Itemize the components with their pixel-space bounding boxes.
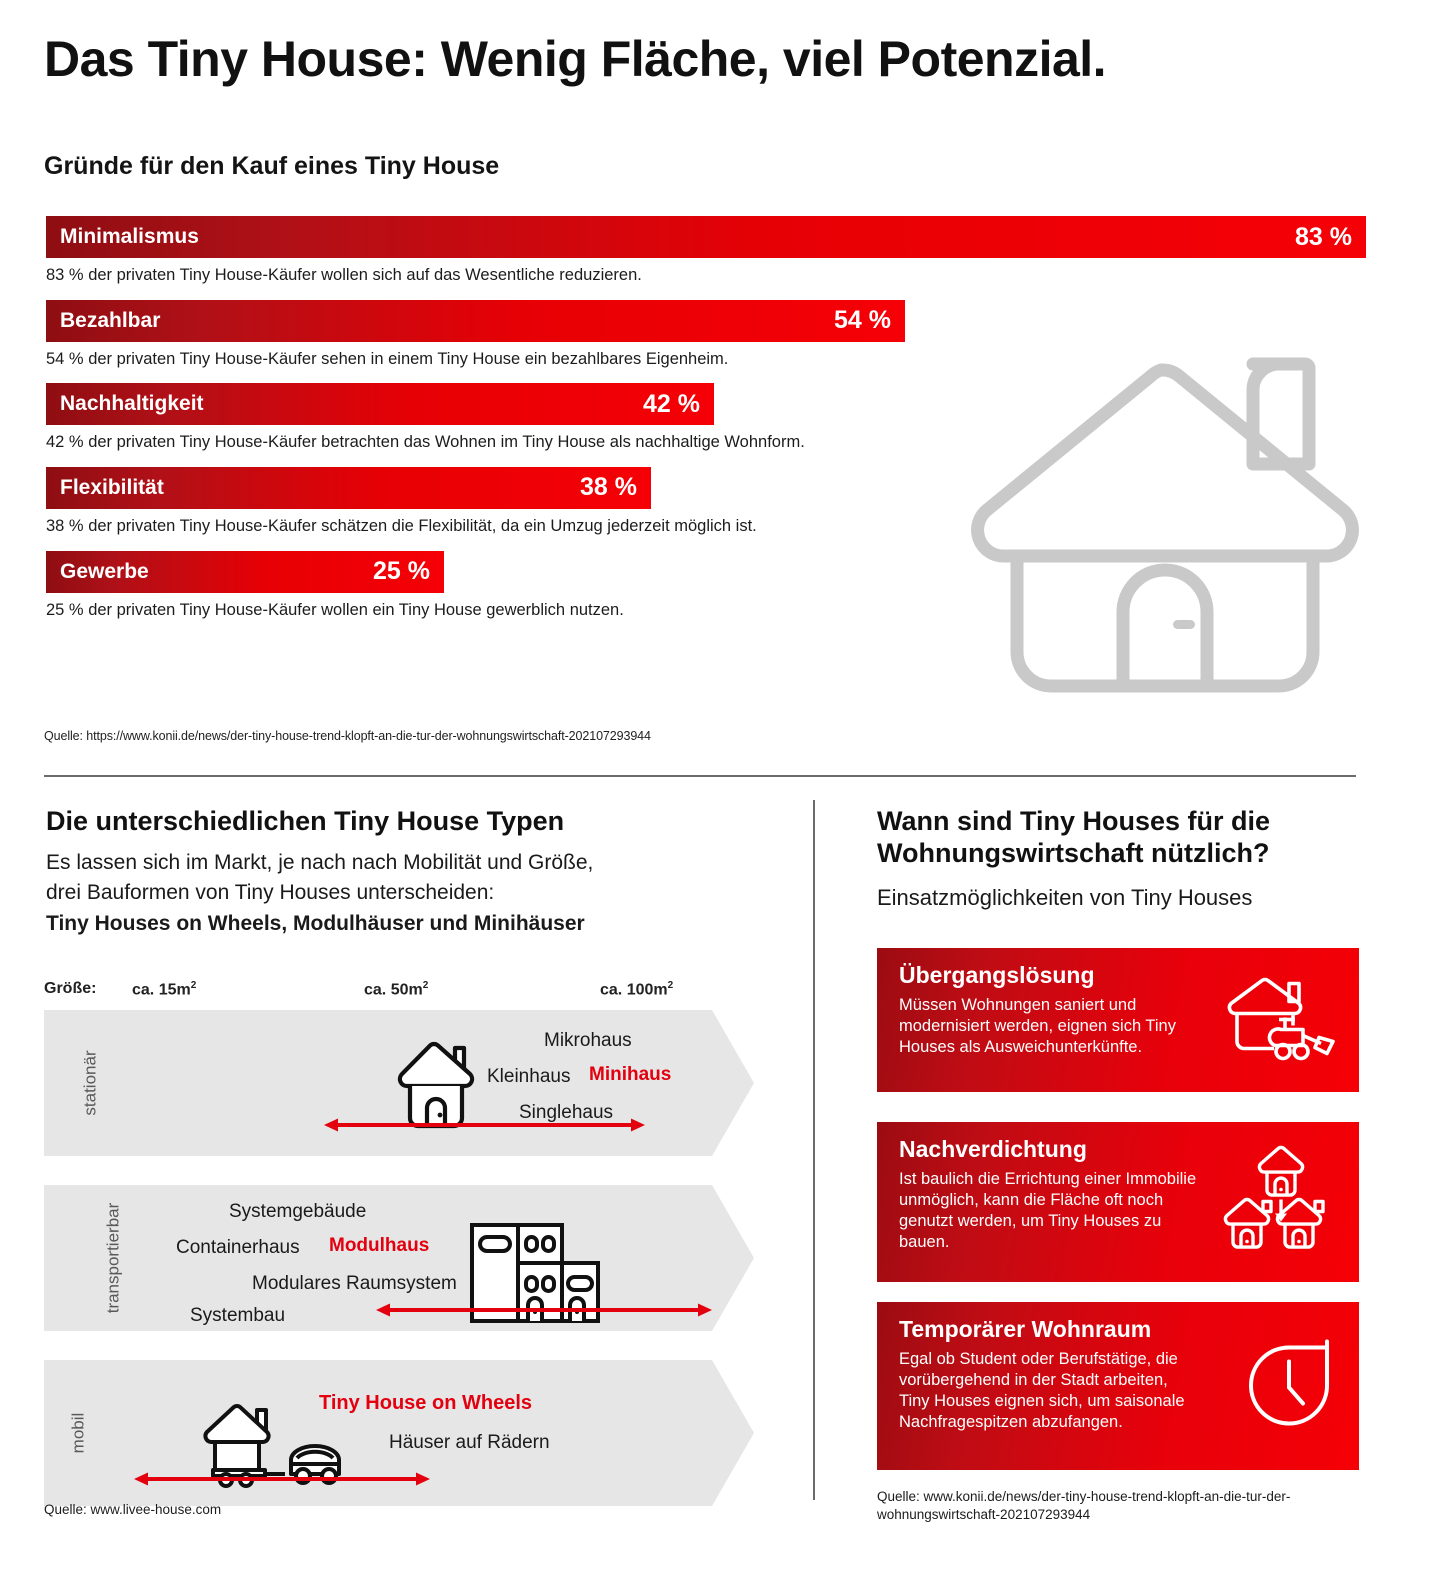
usecases-heading-line2: Wohnungswirtschaft nützlich?: [877, 838, 1269, 868]
bar-label: Gewerbe: [60, 560, 149, 584]
types-intro-line2: drei Bauformen von Tiny Houses untersche…: [46, 878, 746, 908]
types-source: Quelle: www.livee-house.com: [44, 1502, 221, 1517]
band-axis-label: transportierbar: [103, 1203, 123, 1314]
band-term-modulhaus: Modulhaus: [329, 1235, 429, 1257]
band-stationaer: stationär Mikrohaus Kleinhaus Minihaus S…: [44, 1010, 754, 1156]
band-term-kleinhaus: Kleinhaus: [487, 1066, 570, 1088]
types-intro: Es lassen sich im Markt, je nach nach Mo…: [46, 848, 746, 939]
bar-bezahlbar: Bezahlbar 54 %: [46, 300, 905, 342]
bar-label: Nachhaltigkeit: [60, 392, 204, 416]
card-body: Ist baulich die Errichtung einer Immobil…: [899, 1169, 1199, 1253]
bar-nachhaltigkeit: Nachhaltigkeit 42 %: [46, 383, 714, 425]
bar-label: Bezahlbar: [60, 309, 160, 333]
usecases-subheading: Einsatzmöglichkeiten von Tiny Houses: [877, 885, 1252, 911]
three-houses-arrow-icon: [1221, 1140, 1341, 1265]
band-term-haeuser-auf-raedern: Häuser auf Rädern: [389, 1432, 550, 1454]
band-term-minihaus: Minihaus: [589, 1064, 671, 1086]
page-title: Das Tiny House: Wenig Fläche, viel Poten…: [44, 30, 1106, 88]
bar-value: 42 %: [643, 390, 700, 419]
band-term-mikrohaus: Mikrohaus: [544, 1030, 632, 1052]
types-section-heading: Die unterschiedlichen Tiny House Typen: [46, 806, 564, 837]
bar-flexibilitaet: Flexibilität 38 %: [46, 467, 651, 509]
types-intro-bold: Tiny Houses on Wheels, Modulhäuser und M…: [46, 909, 746, 939]
band-term-systembau: Systembau: [190, 1305, 285, 1327]
band-mobil: mobil Tiny House on Wheels Häuser auf Rä…: [44, 1360, 754, 1506]
bar-description: 83 % der privaten Tiny House-Käufer woll…: [46, 265, 1366, 286]
usecases-source-line2: wohnungswirtschaft-202107293944: [877, 1507, 1090, 1522]
usecases-source: Quelle: www.konii.de/news/der-tiny-house…: [877, 1488, 1347, 1524]
types-intro-line1: Es lassen sich im Markt, je nach nach Mo…: [46, 848, 746, 878]
size-scale: Größe: ca. 15m2 ca. 50m2 ca. 100m2: [44, 980, 764, 1004]
section-divider-horizontal: [44, 775, 1356, 777]
size-range-arrow: [374, 1301, 714, 1324]
house-with-excavator-icon: [1225, 970, 1341, 1071]
size-tick-50: ca. 50m2: [364, 980, 428, 999]
usecase-card-uebergangsloesung: Übergangslösung Müssen Wohnungen saniert…: [877, 948, 1359, 1092]
size-range-arrow: [132, 1470, 432, 1493]
bar-gewerbe: Gewerbe 25 %: [46, 551, 444, 593]
band-term-modulares-raumsystem: Modulares Raumsystem: [252, 1273, 457, 1295]
usecase-card-nachverdichtung: Nachverdichtung Ist baulich die Errichtu…: [877, 1122, 1359, 1282]
usecases-section-heading: Wann sind Tiny Houses für die Wohnungswi…: [877, 806, 1367, 870]
bar-label: Minimalismus: [60, 225, 199, 249]
bar-row: Minimalismus 83 % 83 % der privaten Tiny…: [46, 216, 1366, 286]
bar-value: 54 %: [834, 306, 891, 335]
usecases-heading-line1: Wann sind Tiny Houses für die: [877, 806, 1270, 836]
bar-minimalismus: Minimalismus 83 %: [46, 216, 1366, 258]
size-range-arrow: [322, 1116, 647, 1139]
bar-value: 25 %: [373, 557, 430, 586]
band-axis-label: stationär: [81, 1050, 101, 1115]
bar-value: 38 %: [580, 473, 637, 502]
card-body: Müssen Wohnungen saniert und modernisier…: [899, 995, 1199, 1058]
section-divider-vertical: [813, 800, 815, 1500]
band-axis-label: mobil: [68, 1413, 88, 1454]
band-transportierbar: transportierbar Systemgebäude Containerh…: [44, 1185, 754, 1331]
reasons-section-heading: Gründe für den Kauf eines Tiny House: [44, 152, 499, 181]
clock-drop-icon: [1241, 1332, 1341, 1441]
bar-value: 83 %: [1295, 223, 1352, 252]
usecase-card-temporaerer-wohnraum: Temporärer Wohnraum Egal ob Student oder…: [877, 1302, 1359, 1470]
size-scale-label: Größe:: [44, 980, 96, 998]
usecases-source-line1: Quelle: www.konii.de/news/der-tiny-house…: [877, 1489, 1290, 1504]
reasons-source: Quelle: https://www.konii.de/news/der-ti…: [44, 729, 651, 743]
size-tick-100: ca. 100m2: [600, 980, 673, 999]
band-term-containerhaus: Containerhaus: [176, 1237, 300, 1259]
band-term-systemgebaeude: Systemgebäude: [229, 1201, 366, 1223]
size-tick-15: ca. 15m2: [132, 980, 196, 999]
house-outline-icon: [965, 300, 1365, 705]
card-body: Egal ob Student oder Berufstätige, die v…: [899, 1349, 1199, 1433]
bar-label: Flexibilität: [60, 476, 164, 500]
